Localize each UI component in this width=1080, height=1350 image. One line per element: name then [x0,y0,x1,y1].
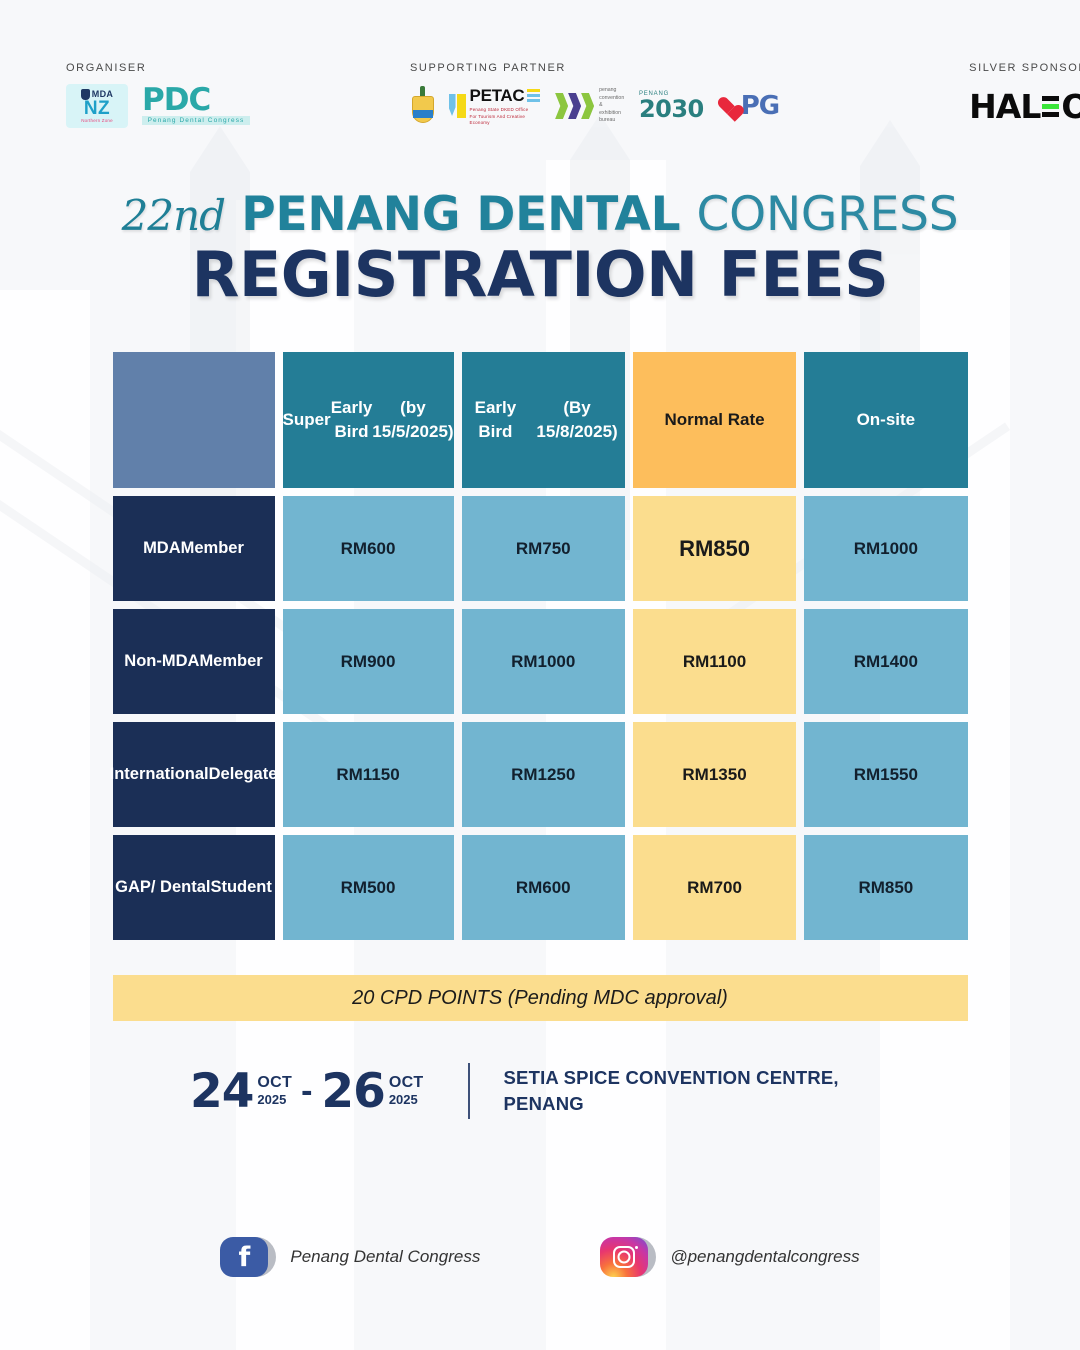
fee-cell-2-3: RM1550 [804,722,967,827]
pdc-letters: PDC [142,87,250,115]
end-month: OCT [389,1074,424,1092]
instagram-link[interactable]: @penangdentalcongress [600,1237,859,1277]
registration-fee-table: SuperEarly Bird(by 15/5/2025)Early Bird(… [113,352,968,940]
pceb-line4: bureau [599,117,625,125]
facebook-handle: Penang Dental Congress [290,1247,480,1267]
fee-cell-2-0: RM1150 [283,722,454,827]
fee-cell-0-1: RM750 [462,496,625,601]
pg-label: PG [741,91,779,121]
fee-cell-3-1: RM600 [462,835,625,940]
pdc-sublabel: Penang Dental Congress [142,116,250,125]
haleon-e-icon [1042,96,1059,117]
row-label-1: Non-MDAMember [113,609,275,714]
end-day: 26 [321,1068,384,1115]
fee-cell-2-1: RM1250 [462,722,625,827]
heart-icon [718,97,738,115]
instagram-handle: @penangdentalcongress [670,1247,859,1267]
love-pg-logo: PG [718,91,779,121]
social-links: f Penang Dental Congress @penangdentalco… [0,1237,1080,1277]
fee-cell-1-2: RM1100 [633,609,796,714]
organiser-group: ORGANISER MDA NZ Northern Zone PDC Penan… [66,62,250,129]
start-year: 2025 [257,1093,292,1108]
vertical-divider [468,1063,470,1119]
supporting-partner-label: SUPPORTING PARTNER [410,62,779,74]
congress-title: 22nd PENANG DENTAL CONGRESS [0,191,1080,238]
start-day: 24 [190,1068,253,1115]
fee-cell-2-2: RM1350 [633,722,796,827]
pceb-logo: penang convention & exhibition bureau [555,87,625,125]
row-label-0: MDAMember [113,496,275,601]
silver-sponsor-label: SILVER SPONSOR [969,62,1080,74]
petac-bars-icon [527,89,540,102]
organiser-label: ORGANISER [66,62,250,74]
pceb-line2: convention & [599,95,625,110]
penang-2030-logo: PENANG 2030 [639,91,704,121]
facebook-link[interactable]: f Penang Dental Congress [220,1237,480,1277]
petac-sub2: For Tourism And Creative Economy [470,114,542,126]
pceb-line3: exhibition [599,110,625,118]
facebook-icon[interactable]: f [220,1237,268,1277]
penang-2030-number: 2030 [639,97,704,121]
instagram-icon[interactable] [600,1237,648,1277]
end-year: 2025 [389,1093,424,1108]
row-label-3: GAP/ DentalStudent [113,835,275,940]
fee-cell-3-0: RM500 [283,835,454,940]
supporting-partner-group: SUPPORTING PARTNER PETAC [410,62,779,129]
pceb-line1: penang [599,87,625,95]
petac-sub1: Penang State DKED Office [470,107,542,113]
petac-mark-icon [449,94,466,118]
nz-sublabel: Northern Zone [81,119,113,124]
date-separator: - [301,1072,312,1111]
sponsor-logo-bar: ORGANISER MDA NZ Northern Zone PDC Penan… [0,0,1080,129]
petac-word: PETAC [470,86,525,106]
silver-sponsor-group: SILVER SPONSOR HAL ON Ja DOCTOR SHIELD I… [969,62,1080,129]
start-month: OCT [257,1074,292,1092]
haleon-part1: HAL [969,87,1040,126]
venue-text: SETIA SPICE CONVENTION CENTRE, PENANG [504,1065,921,1118]
fee-cell-1-1: RM1000 [462,609,625,714]
event-details-bar: 24 OCT 2025 - 26 OCT 2025 SETIA SPICE CO… [160,1063,920,1119]
column-header-2: Early Bird(By 15/8/2025) [462,352,625,488]
title-block: 22nd PENANG DENTAL CONGRESS REGISTRATION… [0,191,1080,306]
page-title: REGISTRATION FEES [0,244,1080,306]
fee-cell-1-3: RM1400 [804,609,967,714]
mda-nz-logo: MDA NZ Northern Zone [66,84,128,128]
fee-cell-3-3: RM850 [804,835,967,940]
haleon-logo: HAL ON [969,87,1080,126]
row-label-2: InternationalDelegate [113,722,275,827]
pdc-logo: PDC Penang Dental Congress [142,83,250,129]
pceb-mark-icon [555,93,594,119]
fee-cell-0-3: RM1000 [804,496,967,601]
fee-cell-0-0: RM600 [283,496,454,601]
cpd-points-banner: 20 CPD POINTS (Pending MDC approval) [113,975,968,1021]
title-ordinal: 22nd [122,191,225,240]
haleon-part2: ON [1061,87,1080,126]
event-dates: 24 OCT 2025 - 26 OCT 2025 [190,1068,424,1115]
fee-cell-0-2: RM850 [633,496,796,601]
nz-label: NZ [84,99,110,118]
table-corner-blank [113,352,275,488]
petac-logo: PETAC Penang State DKED Office For Touri… [449,86,542,126]
column-header-4: On-site [804,352,967,488]
fee-cell-3-2: RM700 [633,835,796,940]
column-header-3: Normal Rate [633,352,796,488]
title-light-part: CONGRESS [697,187,959,242]
fee-cell-1-0: RM900 [283,609,454,714]
penang-state-crest-icon [410,86,435,126]
title-bold-part: PENANG DENTAL [241,187,680,242]
column-header-1: SuperEarly Bird(by 15/5/2025) [283,352,454,488]
